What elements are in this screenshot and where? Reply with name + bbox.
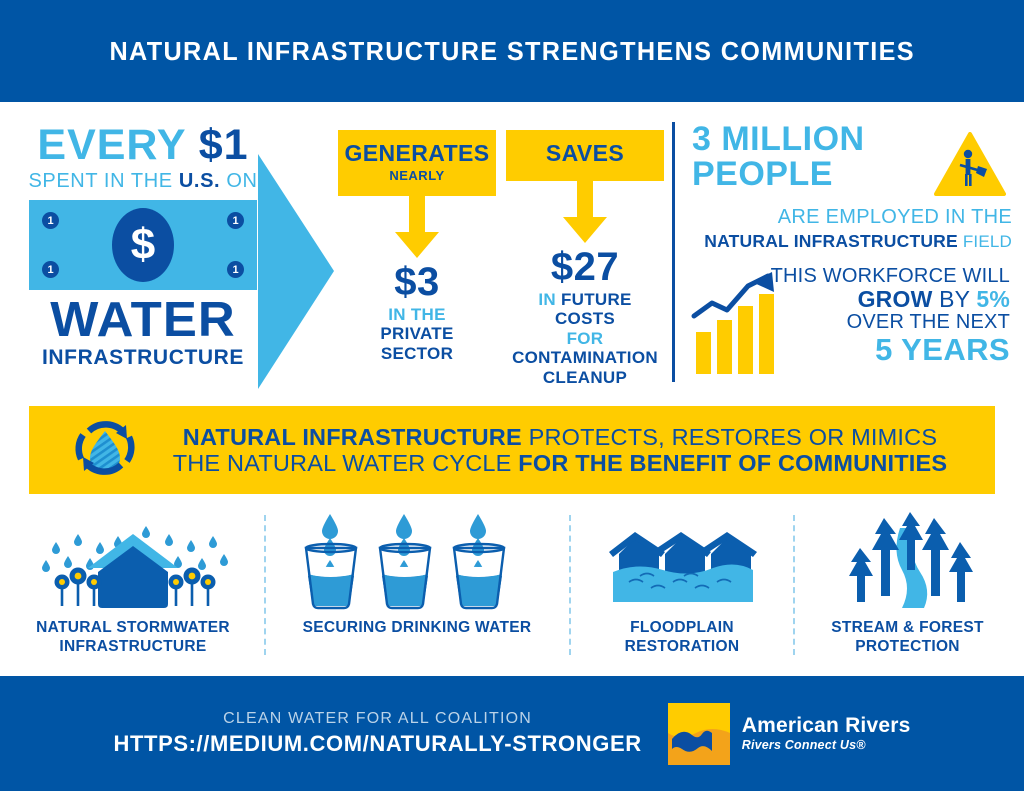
- stat-verb: SAVES: [510, 142, 660, 165]
- workforce-growth-row: THIS WORKFORCE WILL GROW BY 5% OVER THE …: [690, 266, 1012, 376]
- one-dollar-amount: $1: [199, 121, 249, 169]
- workforce-growth-text: THIS WORKFORCE WILL GROW BY 5% OVER THE …: [771, 266, 1010, 366]
- stat-desc-dark: CLEANUP: [543, 368, 627, 387]
- dollar-sign-badge: $: [112, 208, 174, 282]
- category-caption: NATURAL STORMWATER INFRASTRUCTURE: [36, 619, 230, 656]
- workforce-headline-line2: PEOPLE: [692, 157, 865, 192]
- down-arrow-icon: [394, 196, 440, 260]
- stat-desc-dark: SECTOR: [381, 344, 453, 363]
- category-divider: [264, 515, 266, 655]
- spent-subhead: SPENT IN THE U.S. ON: [12, 170, 274, 193]
- worker-warning-triangle-icon: [934, 132, 1006, 201]
- field-line: NATURAL INFRASTRUCTURE FIELD: [690, 231, 1012, 252]
- definition-line2: THE NATURAL WATER CYCLE FOR THE BENEFIT …: [155, 450, 965, 476]
- category-securing-drinking-water: SECURING DRINKING WATER: [272, 505, 562, 675]
- field-bold: NATURAL INFRASTRUCTURE: [704, 231, 958, 251]
- stat-desc-line: CONTAMINATION: [506, 348, 664, 367]
- stat-desc-line: IN FUTURE COSTS: [506, 290, 664, 329]
- category-icons-row: NATURAL STORMWATER INFRASTRUCTURE: [0, 505, 1024, 675]
- stat-desc-line: IN THE: [338, 305, 496, 324]
- bill-corner-value: 1: [42, 212, 59, 229]
- workforce-headline: 3 MILLION PEOPLE: [692, 122, 865, 192]
- workforce-block: 3 MILLION PEOPLE ARE EMPLOYED IN THE: [690, 122, 1012, 376]
- footer-url[interactable]: HTTPS://MEDIUM.COM/NATURALLY-STRONGER: [114, 731, 642, 757]
- stat-description: IN FUTURE COSTS FOR CONTAMINATION CLEANU…: [506, 290, 664, 387]
- stat-label-box: SAVES: [506, 130, 664, 181]
- definition-bold-tail: FOR THE BENEFIT OF COMMUNITIES: [518, 450, 947, 476]
- infrastructure-subheading: INFRASTRUCTURE: [12, 346, 274, 370]
- category-caption-line1: FLOODPLAIN: [625, 619, 740, 638]
- category-natural-stormwater: NATURAL STORMWATER INFRASTRUCTURE: [8, 505, 258, 675]
- category-caption-line1: NATURAL STORMWATER: [36, 619, 230, 638]
- stat-desc-dark: FUTURE COSTS: [555, 290, 632, 328]
- category-divider: [569, 515, 571, 655]
- infographic-page: NATURAL INFRASTRUCTURE STRENGTHENS COMMU…: [0, 0, 1024, 791]
- growth-line3: OVER THE NEXT: [771, 312, 1010, 333]
- stat-desc-dark: PRIVATE: [380, 324, 453, 343]
- category-caption-line1: SECURING DRINKING WATER: [303, 619, 532, 638]
- spent-prefix: SPENT IN THE: [28, 170, 178, 192]
- definition-bold-lead: NATURAL INFRASTRUCTURE: [183, 424, 522, 450]
- american-rivers-logo[interactable]: American Rivers Rivers Connect Us®: [668, 703, 911, 765]
- page-header: NATURAL INFRASTRUCTURE STRENGTHENS COMMU…: [0, 0, 1024, 102]
- stat-amount: $3: [338, 262, 496, 302]
- footer-text-block: CLEAN WATER FOR ALL COALITION HTTPS://ME…: [114, 710, 642, 757]
- stat-desc-light: IN THE: [388, 305, 446, 324]
- workforce-headline-line1: 3 MILLION: [692, 122, 865, 157]
- stat-verb: GENERATES: [342, 142, 492, 165]
- down-arrow-icon: [562, 181, 608, 245]
- floodplain-houses-water-icon: [607, 505, 757, 610]
- definition-line1: NATURAL INFRASTRUCTURE PROTECTS, RESTORE…: [155, 424, 965, 450]
- bill-corner-value: 1: [227, 212, 244, 229]
- rain-house-flowers-icon: [26, 505, 241, 610]
- grow-word: GROW: [858, 286, 933, 312]
- water-cycle-icon: [69, 415, 141, 486]
- bill-corner-value: 1: [227, 261, 244, 278]
- category-caption: SECURING DRINKING WATER: [303, 619, 532, 638]
- us-label: U.S.: [179, 170, 220, 192]
- spent-suffix: ON: [220, 170, 257, 192]
- bill-corner-value: 1: [42, 261, 59, 278]
- stat-desc-line: SECTOR: [338, 344, 496, 363]
- category-caption: FLOODPLAIN RESTORATION: [625, 619, 740, 656]
- stat-desc-light: FOR: [567, 329, 604, 348]
- definition-rest-lead: PROTECTS, RESTORES OR MIMICS: [522, 424, 937, 450]
- stat-description: IN THE PRIVATE SECTOR: [338, 305, 496, 363]
- stat-desc-line: CLEANUP: [506, 368, 664, 387]
- growth-line1: THIS WORKFORCE WILL: [771, 266, 1010, 287]
- top-statistics-row: EVERY $1 SPENT IN THE U.S. ON 1 1 1 1 $ …: [0, 102, 1024, 392]
- category-divider: [793, 515, 795, 655]
- right-arrow-icon: [258, 154, 338, 389]
- stat-sub: NEARLY: [342, 168, 492, 183]
- stat-desc-line: FOR: [506, 329, 664, 348]
- category-floodplain-restoration: FLOODPLAIN RESTORATION: [572, 505, 792, 675]
- growth-line2: GROW BY 5%: [771, 288, 1010, 312]
- american-rivers-wave-logo-icon: [668, 703, 730, 765]
- vertical-divider: [672, 122, 675, 382]
- logo-tagline: Rivers Connect Us®: [742, 739, 911, 752]
- water-heading: WATER: [7, 296, 279, 345]
- definition-banner: NATURAL INFRASTRUCTURE PROTECTS, RESTORE…: [29, 406, 995, 494]
- category-caption-line2: RESTORATION: [625, 638, 740, 657]
- definition-rest-tail: THE NATURAL WATER CYCLE: [173, 450, 519, 476]
- coalition-name: CLEAN WATER FOR ALL COALITION: [114, 710, 642, 728]
- stat-desc-dark: CONTAMINATION: [512, 348, 658, 367]
- every-word: EVERY: [37, 121, 198, 169]
- field-rest: FIELD: [958, 232, 1012, 251]
- category-caption-line2: INFRASTRUCTURE: [36, 638, 230, 657]
- by-word: BY: [932, 286, 976, 312]
- every-dollar-block: EVERY $1 SPENT IN THE U.S. ON 1 1 1 1 $ …: [12, 124, 274, 370]
- stat-desc-light: IN: [538, 290, 561, 309]
- page-footer: CLEAN WATER FOR ALL COALITION HTTPS://ME…: [0, 676, 1024, 791]
- stat-saves: SAVES $27 IN FUTURE COSTS FOR CONTAMINAT…: [506, 130, 664, 387]
- stat-desc-line: PRIVATE: [338, 324, 496, 343]
- forest-stream-trees-icon: [838, 505, 978, 610]
- dollar-bill-icon: 1 1 1 1 $: [29, 200, 257, 290]
- category-caption: STREAM & FOREST PROTECTION: [831, 619, 984, 656]
- employed-line: ARE EMPLOYED IN THE: [690, 206, 1012, 229]
- stat-amount: $27: [506, 247, 664, 287]
- growth-line4: 5 YEARS: [771, 334, 1010, 366]
- definition-text: NATURAL INFRASTRUCTURE PROTECTS, RESTORE…: [141, 424, 995, 477]
- category-caption-line2: PROTECTION: [831, 638, 984, 657]
- drinking-glasses-droplets-icon: [292, 505, 542, 610]
- every-dollar-headline: EVERY $1: [12, 124, 274, 167]
- logo-name: American Rivers: [742, 715, 911, 737]
- growth-percent: 5%: [976, 286, 1010, 312]
- category-stream-forest-protection: STREAM & FOREST PROTECTION: [800, 505, 1015, 675]
- stat-label-box: GENERATES NEARLY: [338, 130, 496, 196]
- stat-generates: GENERATES NEARLY $3 IN THE PRIVATE SECTO…: [338, 130, 496, 363]
- page-title: NATURAL INFRASTRUCTURE STRENGTHENS COMMU…: [109, 36, 915, 67]
- category-caption-line1: STREAM & FOREST: [831, 619, 984, 638]
- workforce-headline-row: 3 MILLION PEOPLE: [690, 122, 1012, 202]
- logo-wordmark: American Rivers Rivers Connect Us®: [742, 715, 911, 752]
